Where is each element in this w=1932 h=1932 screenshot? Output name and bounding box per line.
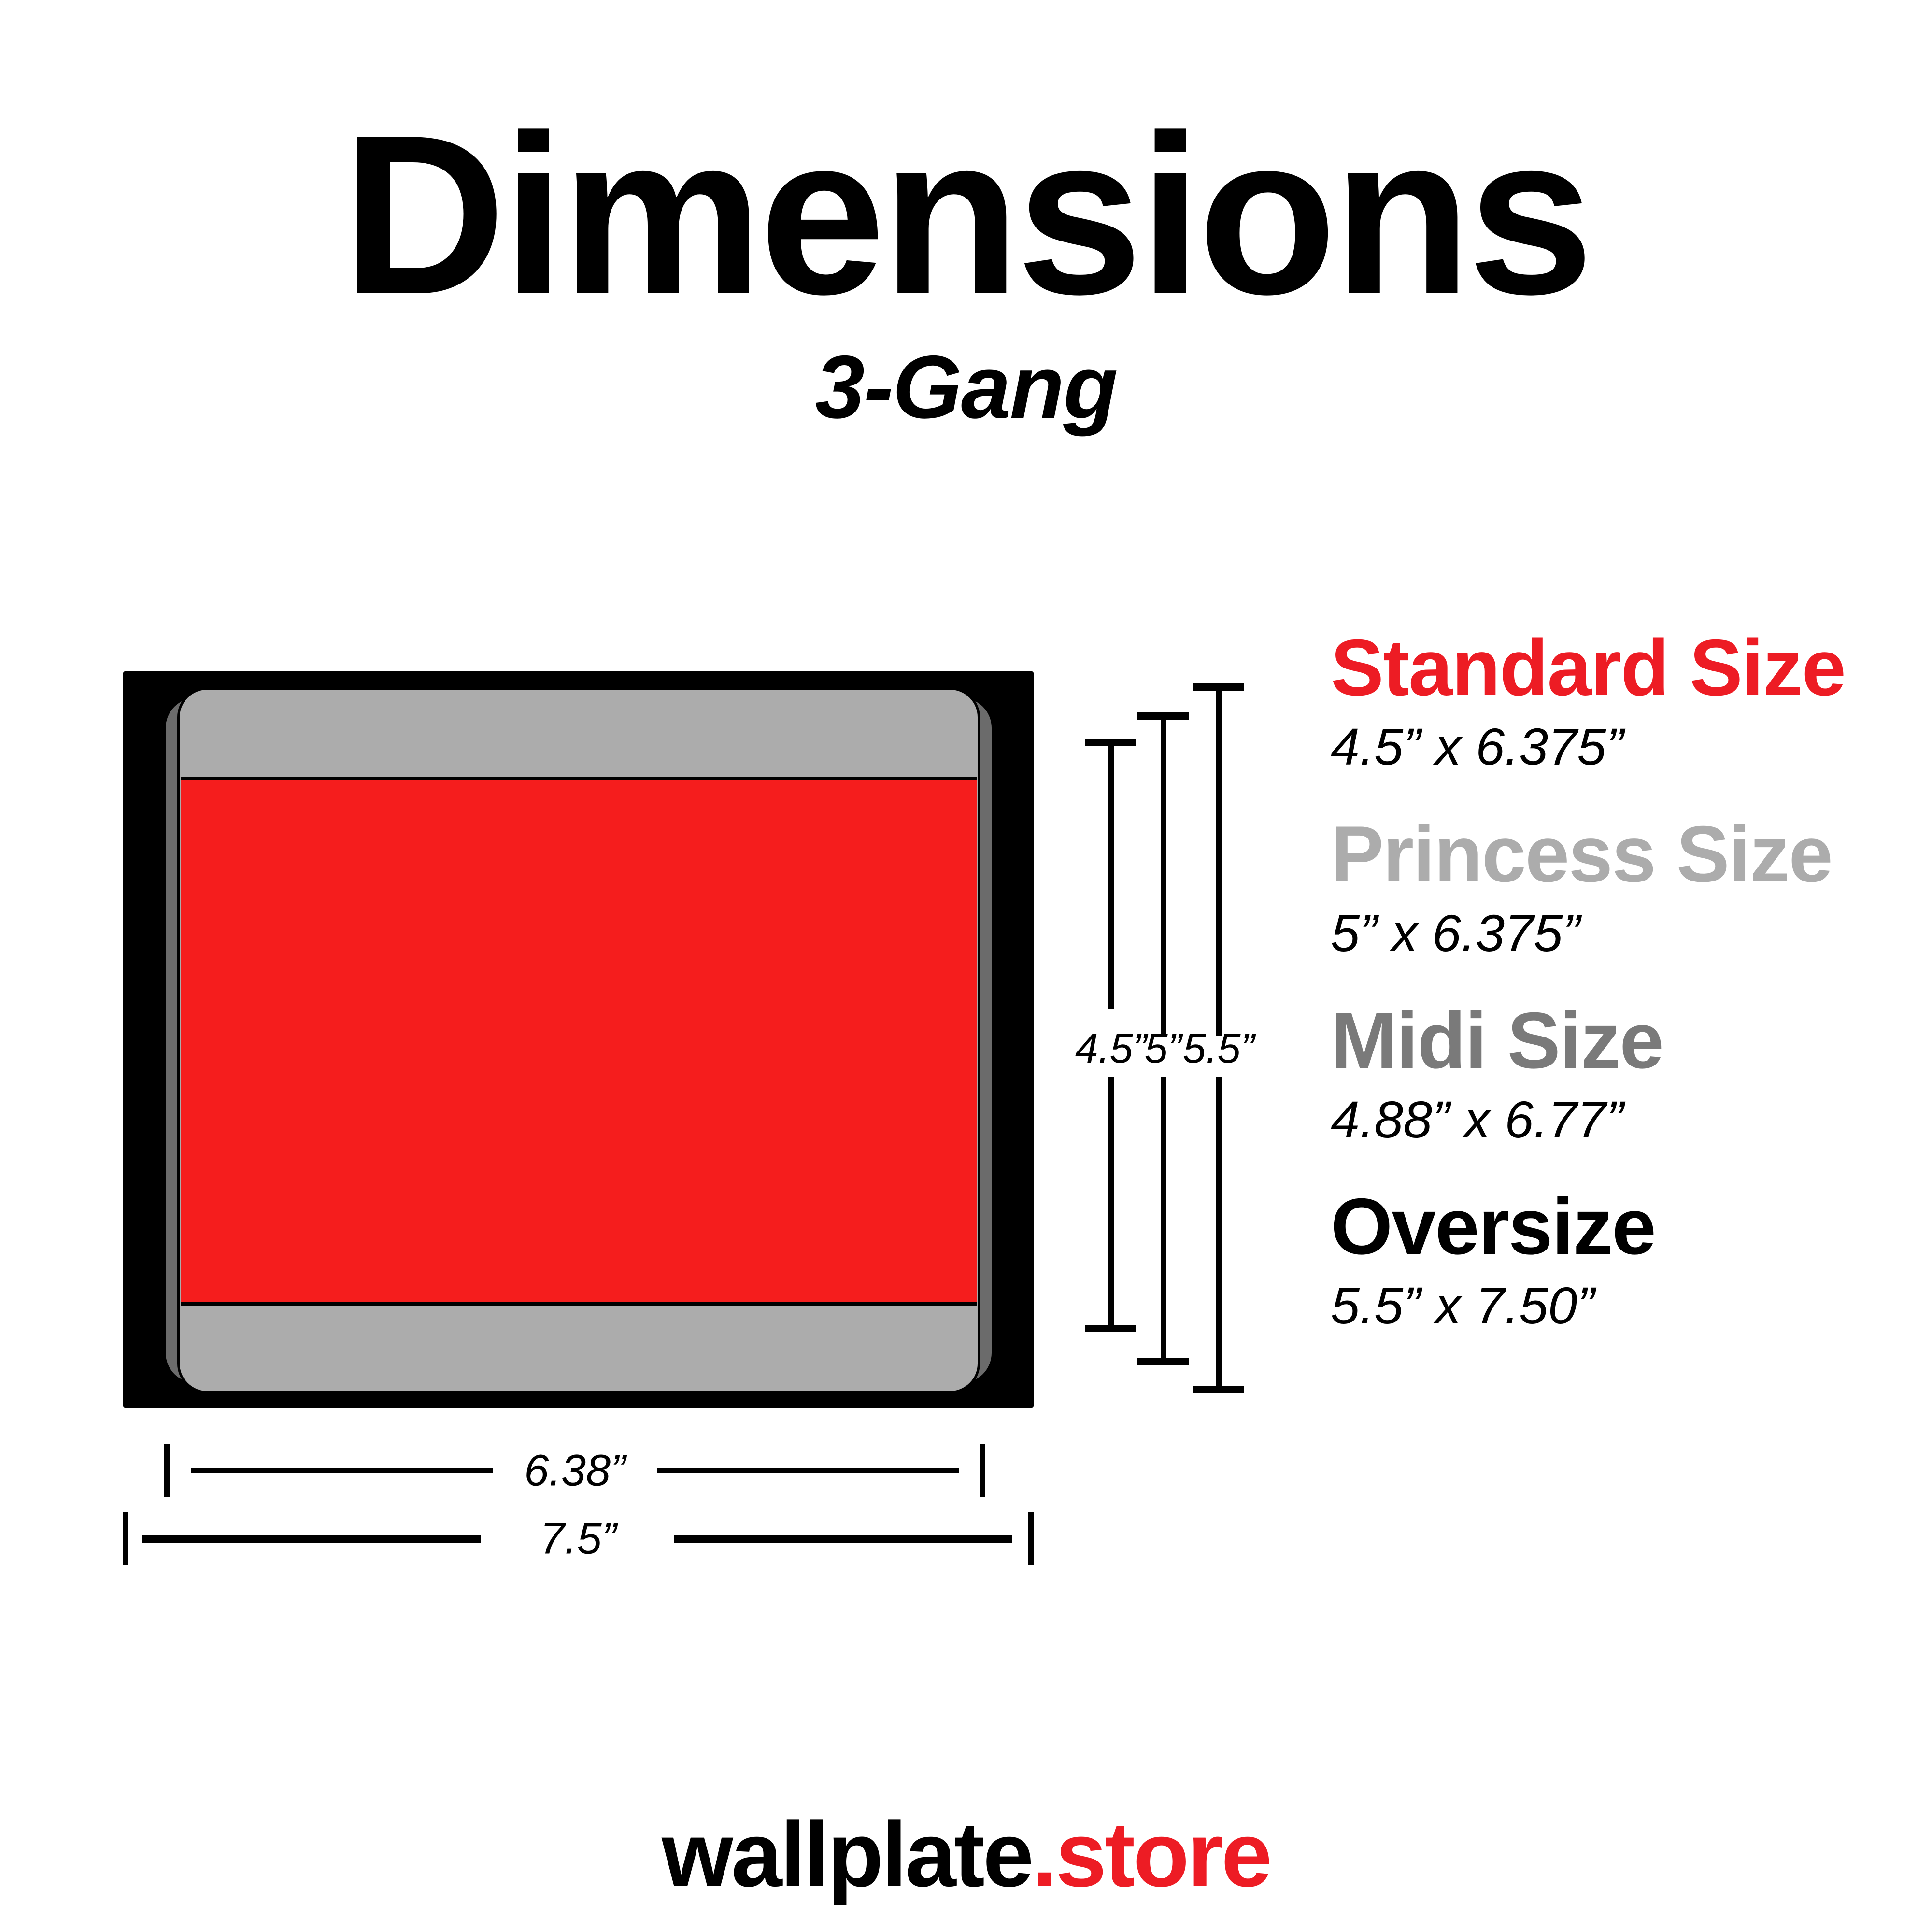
vertical-dimension-label: 5” (1145, 1025, 1181, 1073)
footer-logo: wallplate.store (0, 1809, 1932, 1901)
dimension-cap-bottom (1137, 1358, 1189, 1365)
logo-brand-text: wallplate (662, 1804, 1032, 1906)
size-dims-princess: 5” x 6.375” (1331, 905, 1925, 962)
wallplate-diagram (123, 671, 1034, 1408)
horizontal-dimension-7-5: 7.5” (123, 1512, 1034, 1565)
page-subtitle: 3-Gang (0, 343, 1932, 432)
dimension-stem-lower (1216, 1077, 1222, 1386)
size-name-midi: Midi Size (1331, 1001, 1925, 1080)
dimension-stem-upper (1161, 720, 1166, 1036)
dimension-stem-lower (1161, 1077, 1166, 1358)
dimension-cap-top (1193, 683, 1244, 691)
horizontal-dimension-6-38: 6.38” (164, 1444, 985, 1497)
dimension-cap-left (164, 1444, 170, 1497)
dimension-cap-right (980, 1444, 985, 1497)
size-entry-standard: Standard Size 4.5” x 6.375” (1331, 628, 1925, 776)
logo-dot: . (1032, 1804, 1056, 1906)
dimension-stem-upper (1216, 691, 1222, 1036)
vertical-dimension-4-5: 4.5” (1084, 739, 1137, 1338)
size-dims-oversize: 5.5” x 7.50” (1331, 1277, 1925, 1335)
size-entry-oversize: Oversize 5.5” x 7.50” (1331, 1187, 1925, 1335)
vertical-dimension-5-5: 5.5” (1192, 683, 1245, 1393)
vertical-dimension-label: 5.5” (1183, 1025, 1254, 1073)
dimension-stem-lower (1108, 1077, 1114, 1325)
dimension-stem-upper (1108, 746, 1114, 1009)
dimension-cap-left (123, 1512, 128, 1565)
size-dims-standard: 4.5” x 6.375” (1331, 718, 1925, 776)
horizontal-dimension-label: 6.38” (524, 1446, 625, 1496)
dimension-cap-top (1137, 712, 1189, 720)
dimension-cap-bottom (1193, 1386, 1244, 1393)
horizontal-dimension-label: 7.5” (540, 1514, 617, 1564)
dimension-cap-bottom (1085, 1325, 1136, 1332)
logo-tld-text: store (1055, 1804, 1270, 1906)
size-legend-panel: Standard Size 4.5” x 6.375” Princess Siz… (1331, 628, 1925, 1373)
size-name-standard: Standard Size (1331, 628, 1925, 708)
dimension-cap-top (1085, 739, 1136, 746)
dimension-cap-right (1028, 1512, 1034, 1565)
size-name-oversize: Oversize (1331, 1187, 1925, 1266)
dimension-run-right (674, 1535, 1012, 1543)
size-name-princess: Princess Size (1331, 814, 1925, 894)
plate-layer-standard (181, 777, 977, 1306)
dimension-run-left (142, 1535, 481, 1543)
dimension-run-left (191, 1468, 493, 1473)
vertical-dimension-label: 4.5” (1075, 1025, 1147, 1073)
size-dims-midi: 4.88” x 6.77” (1331, 1091, 1925, 1149)
vertical-dimension-5: 5” (1136, 712, 1190, 1365)
size-entry-midi: Midi Size 4.88” x 6.77” (1331, 1001, 1925, 1149)
page-title: Dimensions (0, 101, 1932, 328)
size-entry-princess: Princess Size 5” x 6.375” (1331, 814, 1925, 962)
dimension-run-right (657, 1468, 959, 1473)
header: Dimensions 3-Gang (0, 0, 1932, 432)
